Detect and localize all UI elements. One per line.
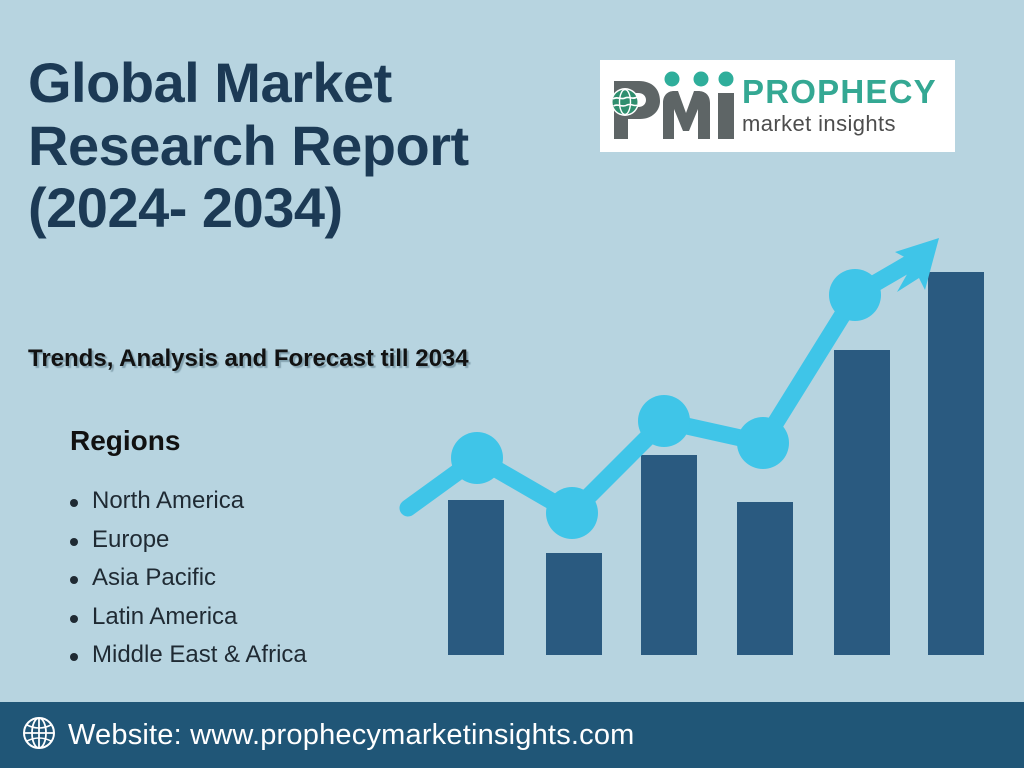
regions-list: North America Europe Asia Pacific Latin …: [60, 482, 307, 675]
poster-canvas: Global Market Research Report (2024- 203…: [0, 0, 1024, 768]
page-title: Global Market Research Report (2024- 203…: [28, 52, 588, 240]
globe-icon: [22, 716, 56, 755]
chart-bars: [448, 272, 984, 655]
regions-heading: Regions: [70, 425, 180, 457]
title-line-2: Research Report: [28, 115, 588, 178]
chart-bar: [737, 502, 793, 655]
logo-tagline-text: market insights: [742, 110, 937, 138]
brand-logo: PROPHECY market insights: [600, 60, 955, 152]
website-label: Website: www.prophecymarketinsights.com: [68, 719, 635, 752]
chart-bar: [448, 500, 504, 655]
list-item: Middle East & Africa: [92, 636, 307, 675]
logo-brand-text: PROPHECY: [742, 75, 937, 108]
chart-bar: [546, 553, 602, 655]
chart-point: [829, 269, 881, 321]
footer-bar: Website: www.prophecymarketinsights.com: [0, 702, 1024, 768]
chart-bar: [641, 455, 697, 655]
pmi-monogram-icon: [606, 69, 738, 143]
chart-point: [451, 432, 503, 484]
growth-chart-graphic: [395, 230, 1015, 670]
list-item: Europe: [92, 521, 307, 560]
logo-wordmark: PROPHECY market insights: [742, 75, 937, 138]
chart-point: [737, 417, 789, 469]
chart-bar: [834, 350, 890, 655]
chart-bar: [928, 272, 984, 655]
list-item: Latin America: [92, 598, 307, 637]
chart-point: [638, 395, 690, 447]
list-item: North America: [92, 482, 307, 521]
list-item: Asia Pacific: [92, 559, 307, 598]
chart-point: [546, 487, 598, 539]
title-line-1: Global Market: [28, 52, 588, 115]
